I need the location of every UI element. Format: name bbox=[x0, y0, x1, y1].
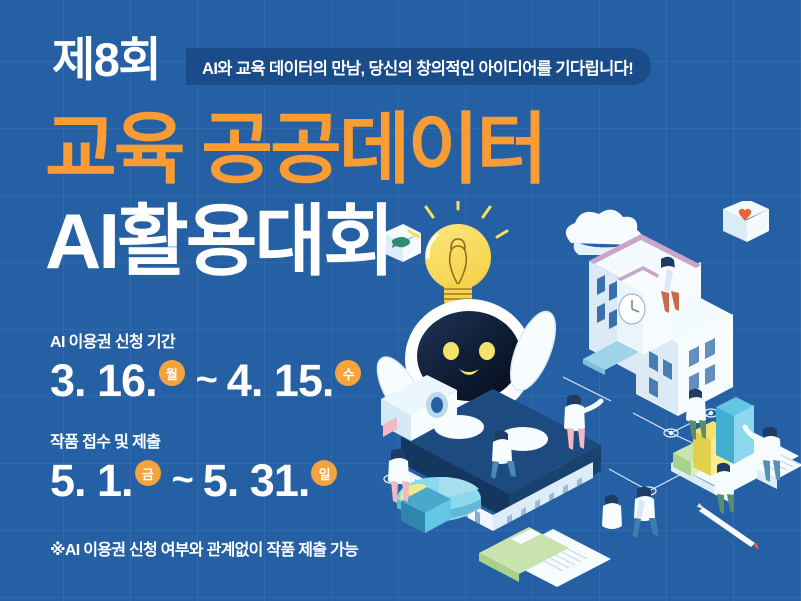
end-date: 5. 31. bbox=[203, 458, 310, 504]
date-separator: ~ bbox=[172, 460, 194, 502]
start-day-badge: 금 bbox=[135, 460, 161, 486]
tagline-banner: AI와 교육 데이터의 만남, 당신의 창의적인 아이디어를 기다립니다! bbox=[186, 48, 651, 85]
end-date: 4. 15. bbox=[227, 358, 334, 404]
period-label: AI 이용권 신청 기간 bbox=[50, 328, 361, 352]
period-dates: 5. 1. 금 ~ 5. 31. 일 bbox=[50, 458, 337, 504]
period-block-application: AI 이용권 신청 기간 3. 16. 월 ~ 4. 15. 수 bbox=[50, 328, 361, 404]
title-line-1: 교육 공공데이터 bbox=[45, 110, 545, 188]
period-label: 작품 접수 및 제출 bbox=[50, 428, 337, 452]
end-day-badge: 수 bbox=[335, 360, 361, 386]
start-date: 3. 16. bbox=[50, 358, 157, 404]
title-line-2: AI활용대회 bbox=[45, 202, 392, 280]
edition-number: 제8회 bbox=[52, 36, 160, 83]
school-building bbox=[583, 234, 733, 416]
start-day-badge: 월 bbox=[159, 360, 185, 386]
end-day-badge: 일 bbox=[311, 460, 337, 486]
start-date: 5. 1. bbox=[50, 458, 133, 504]
date-separator: ~ bbox=[196, 360, 218, 402]
heart-card-icon bbox=[723, 201, 769, 242]
pencil-icon bbox=[697, 503, 759, 550]
isometric-illustration bbox=[371, 201, 801, 601]
poster-canvas: 제8회 AI와 교육 데이터의 만남, 당신의 창의적인 아이디어를 기다립니다… bbox=[0, 0, 801, 601]
lightbulb-icon bbox=[409, 201, 507, 310]
document-stack bbox=[479, 527, 611, 587]
period-dates: 3. 16. 월 ~ 4. 15. 수 bbox=[50, 358, 361, 404]
period-block-submission: 작품 접수 및 제출 5. 1. 금 ~ 5. 31. 일 bbox=[50, 428, 337, 504]
footnote: ※AI 이용권 신청 여부와 관계없이 작품 제출 가능 bbox=[50, 536, 358, 560]
